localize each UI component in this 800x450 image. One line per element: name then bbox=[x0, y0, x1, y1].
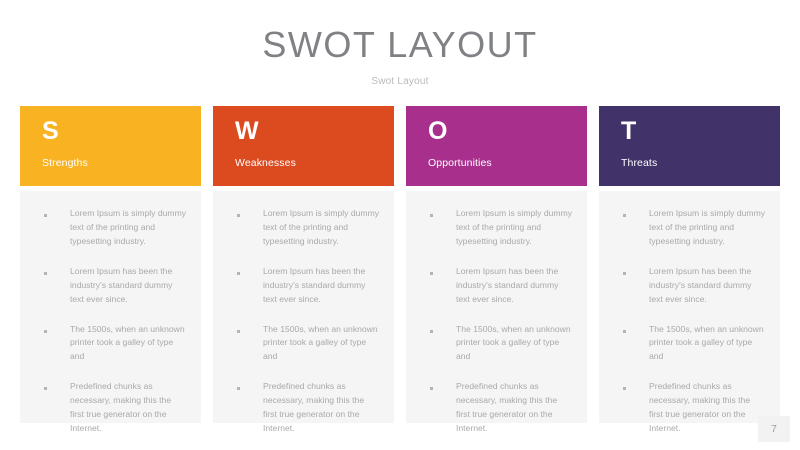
page-subtitle: Swot Layout bbox=[0, 76, 800, 87]
bullet-square-icon bbox=[237, 330, 240, 333]
bullet-square-icon bbox=[44, 272, 47, 275]
list-item: Lorem Ipsum has been the industry's stan… bbox=[34, 265, 187, 307]
list-item: Lorem Ipsum is simply dummy text of the … bbox=[613, 207, 766, 249]
list-item: Predefined chunks as necessary, making t… bbox=[34, 380, 187, 436]
bullet-square-icon bbox=[430, 387, 433, 390]
list-item: Predefined chunks as necessary, making t… bbox=[420, 380, 573, 436]
bullet-square-icon bbox=[430, 214, 433, 217]
page-title: SWOT LAYOUT bbox=[0, 26, 800, 64]
bullet-list: Lorem Ipsum is simply dummy text of the … bbox=[227, 207, 380, 436]
bullet-text: Lorem Ipsum is simply dummy text of the … bbox=[456, 207, 573, 249]
list-item: Predefined chunks as necessary, making t… bbox=[227, 380, 380, 436]
bullet-square-icon bbox=[44, 214, 47, 217]
bullet-square-icon bbox=[623, 272, 626, 275]
column-body-strengths: Lorem Ipsum is simply dummy text of the … bbox=[20, 191, 201, 423]
swot-column-weaknesses[interactable]: W Weaknesses Lorem Ipsum is simply dummy… bbox=[213, 106, 394, 423]
column-name: Opportunities bbox=[428, 157, 587, 169]
bullet-text: Predefined chunks as necessary, making t… bbox=[649, 380, 766, 436]
bullet-list: Lorem Ipsum is simply dummy text of the … bbox=[613, 207, 766, 436]
bullet-square-icon bbox=[44, 330, 47, 333]
swot-column-threats[interactable]: T Threats Lorem Ipsum is simply dummy te… bbox=[599, 106, 780, 423]
swot-column-strengths[interactable]: S Strengths Lorem Ipsum is simply dummy … bbox=[20, 106, 201, 423]
bullet-text: Lorem Ipsum is simply dummy text of the … bbox=[649, 207, 766, 249]
bullet-square-icon bbox=[237, 387, 240, 390]
bullet-text: Predefined chunks as necessary, making t… bbox=[70, 380, 187, 436]
bullet-square-icon bbox=[623, 330, 626, 333]
column-letter: S bbox=[42, 118, 201, 146]
list-item: Lorem Ipsum has been the industry's stan… bbox=[227, 265, 380, 307]
bullet-text: The 1500s, when an unknown printer took … bbox=[70, 323, 187, 365]
bullet-square-icon bbox=[623, 387, 626, 390]
bullet-text: Lorem Ipsum has been the industry's stan… bbox=[456, 265, 573, 307]
bullet-list: Lorem Ipsum is simply dummy text of the … bbox=[34, 207, 187, 436]
bullet-text: Lorem Ipsum has been the industry's stan… bbox=[263, 265, 380, 307]
list-item: The 1500s, when an unknown printer took … bbox=[34, 323, 187, 365]
bullet-text: Lorem Ipsum has been the industry's stan… bbox=[70, 265, 187, 307]
column-name: Threats bbox=[621, 157, 780, 169]
bullet-square-icon bbox=[237, 272, 240, 275]
bullet-text: The 1500s, when an unknown printer took … bbox=[263, 323, 380, 365]
column-header-threats: T Threats bbox=[599, 106, 780, 186]
column-letter: W bbox=[235, 118, 394, 146]
list-item: Lorem Ipsum is simply dummy text of the … bbox=[34, 207, 187, 249]
column-body-opportunities: Lorem Ipsum is simply dummy text of the … bbox=[406, 191, 587, 423]
swot-column-opportunities[interactable]: O Opportunities Lorem Ipsum is simply du… bbox=[406, 106, 587, 423]
column-body-weaknesses: Lorem Ipsum is simply dummy text of the … bbox=[213, 191, 394, 423]
bullet-square-icon bbox=[44, 387, 47, 390]
page-number: 7 bbox=[758, 416, 790, 442]
column-header-strengths: S Strengths bbox=[20, 106, 201, 186]
column-body-threats: Lorem Ipsum is simply dummy text of the … bbox=[599, 191, 780, 423]
bullet-square-icon bbox=[430, 272, 433, 275]
list-item: The 1500s, when an unknown printer took … bbox=[613, 323, 766, 365]
bullet-square-icon bbox=[623, 214, 626, 217]
column-header-weaknesses: W Weaknesses bbox=[213, 106, 394, 186]
list-item: Lorem Ipsum has been the industry's stan… bbox=[420, 265, 573, 307]
column-letter: T bbox=[621, 118, 780, 146]
bullet-list: Lorem Ipsum is simply dummy text of the … bbox=[420, 207, 573, 436]
bullet-text: The 1500s, when an unknown printer took … bbox=[456, 323, 573, 365]
bullet-text: Lorem Ipsum is simply dummy text of the … bbox=[70, 207, 187, 249]
column-header-opportunities: O Opportunities bbox=[406, 106, 587, 186]
column-name: Strengths bbox=[42, 157, 201, 169]
swot-columns-row: S Strengths Lorem Ipsum is simply dummy … bbox=[20, 106, 780, 423]
list-item: The 1500s, when an unknown printer took … bbox=[227, 323, 380, 365]
column-name: Weaknesses bbox=[235, 157, 394, 169]
bullet-text: Lorem Ipsum is simply dummy text of the … bbox=[263, 207, 380, 249]
bullet-text: The 1500s, when an unknown printer took … bbox=[649, 323, 766, 365]
list-item: Predefined chunks as necessary, making t… bbox=[613, 380, 766, 436]
bullet-text: Predefined chunks as necessary, making t… bbox=[456, 380, 573, 436]
bullet-square-icon bbox=[237, 214, 240, 217]
bullet-square-icon bbox=[430, 330, 433, 333]
list-item: Lorem Ipsum is simply dummy text of the … bbox=[420, 207, 573, 249]
bullet-text: Lorem Ipsum has been the industry's stan… bbox=[649, 265, 766, 307]
title-block: SWOT LAYOUT Swot Layout bbox=[0, 0, 800, 87]
list-item: Lorem Ipsum is simply dummy text of the … bbox=[227, 207, 380, 249]
bullet-text: Predefined chunks as necessary, making t… bbox=[263, 380, 380, 436]
column-letter: O bbox=[428, 118, 587, 146]
list-item: Lorem Ipsum has been the industry's stan… bbox=[613, 265, 766, 307]
list-item: The 1500s, when an unknown printer took … bbox=[420, 323, 573, 365]
